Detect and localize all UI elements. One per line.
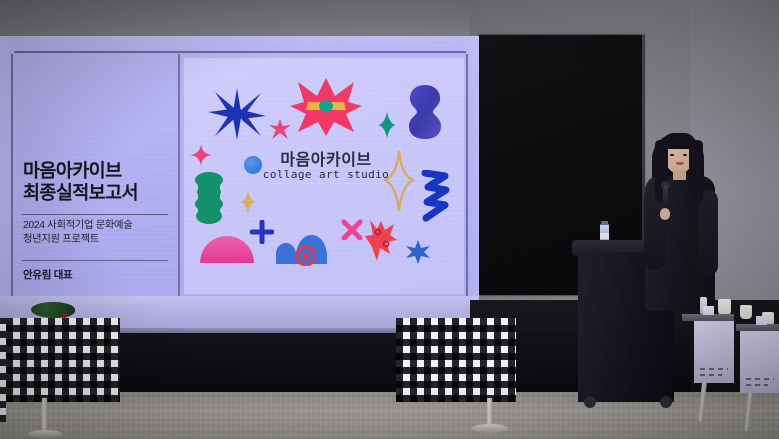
water-bottle-label xyxy=(600,233,609,239)
desk-right-dash-2 xyxy=(746,384,768,386)
presenter-neck xyxy=(673,170,686,180)
slide-title: 마음아카이브 최종실적보고서 xyxy=(23,160,173,204)
water-bottle-cap xyxy=(601,221,608,225)
table-plant xyxy=(31,302,75,318)
slide-column-divider xyxy=(178,54,180,296)
presenter-hair-side-right xyxy=(689,140,703,204)
green-stack-icon xyxy=(194,172,224,224)
teal-diamond-icon xyxy=(378,112,396,138)
slide-title-line2: 최종실적보고서 xyxy=(23,182,173,204)
slide-left-frame xyxy=(11,54,13,296)
presenter-right-arm xyxy=(698,190,718,276)
slide-subtitle: 2024 사회적기업 문화예술 청년지원 프로젝트 xyxy=(23,219,175,246)
table-right-foot xyxy=(472,424,508,433)
gingham-table-right xyxy=(396,318,516,402)
presenter-eye-right xyxy=(683,154,687,156)
presenter-eye-left xyxy=(670,154,674,156)
pink-diamond-icon xyxy=(190,144,212,166)
audience-desk-right-top xyxy=(736,324,779,331)
desk-left-dash-2 xyxy=(700,374,722,376)
desk-cup-b xyxy=(740,305,752,319)
lectern-wheel-left xyxy=(584,396,596,408)
slide-top-rule xyxy=(14,51,466,53)
slide-collage-card: 마음아카이브 collage art studio xyxy=(184,58,464,294)
slide-rule-upper xyxy=(22,214,168,215)
red-flower-star-icon xyxy=(288,76,364,138)
blue-starburst-icon xyxy=(206,86,268,142)
table-left-leg xyxy=(42,398,47,434)
collage-brand-title: 마음아카이브 xyxy=(256,146,396,170)
purple-blob-icon xyxy=(408,84,442,140)
collage-brand-subtitle: collage art studio xyxy=(244,168,408,181)
slide-right-frame xyxy=(466,54,468,296)
blue-plus-icon xyxy=(250,220,274,244)
gold-diamond-icon xyxy=(240,190,256,214)
slide-subtitle-line1: 2024 사회적기업 문화예술 xyxy=(23,219,175,233)
blue-zigzag-icon xyxy=(420,170,450,222)
table-left-foot xyxy=(28,430,62,438)
pink-x-icon xyxy=(340,218,364,242)
desk-namecard-right xyxy=(756,316,767,325)
slide-author: 안유림 대표 xyxy=(23,267,72,282)
desk-right-dash-1 xyxy=(746,378,774,380)
lectern-wheel-right xyxy=(660,396,672,408)
gingham-table-left xyxy=(0,318,120,402)
presenter-hand xyxy=(660,208,670,220)
slide-title-line1: 마음아카이브 xyxy=(23,160,173,182)
slide-left-panel: 마음아카이브 최종실적보고서 2024 사회적기업 문화예술 청년지원 프로젝트… xyxy=(20,56,172,294)
desk-namecard-left xyxy=(703,306,714,315)
red-target-icon xyxy=(296,246,316,266)
slide-subtitle-line2: 청년지원 프로젝트 xyxy=(23,233,175,247)
audience-desk-left-top xyxy=(682,314,734,321)
slide-rule-lower xyxy=(22,260,168,261)
desk-cup-a xyxy=(718,299,731,315)
red-arrow-icon xyxy=(364,218,398,262)
desk-left-dash-1 xyxy=(700,368,728,370)
presentation-room-scene: 마음아카이브 최종실적보고서 2024 사회적기업 문화예술 청년지원 프로젝트… xyxy=(0,0,779,439)
gingham-table-left-skirt xyxy=(0,318,6,422)
blue-six-star-icon xyxy=(406,240,430,264)
